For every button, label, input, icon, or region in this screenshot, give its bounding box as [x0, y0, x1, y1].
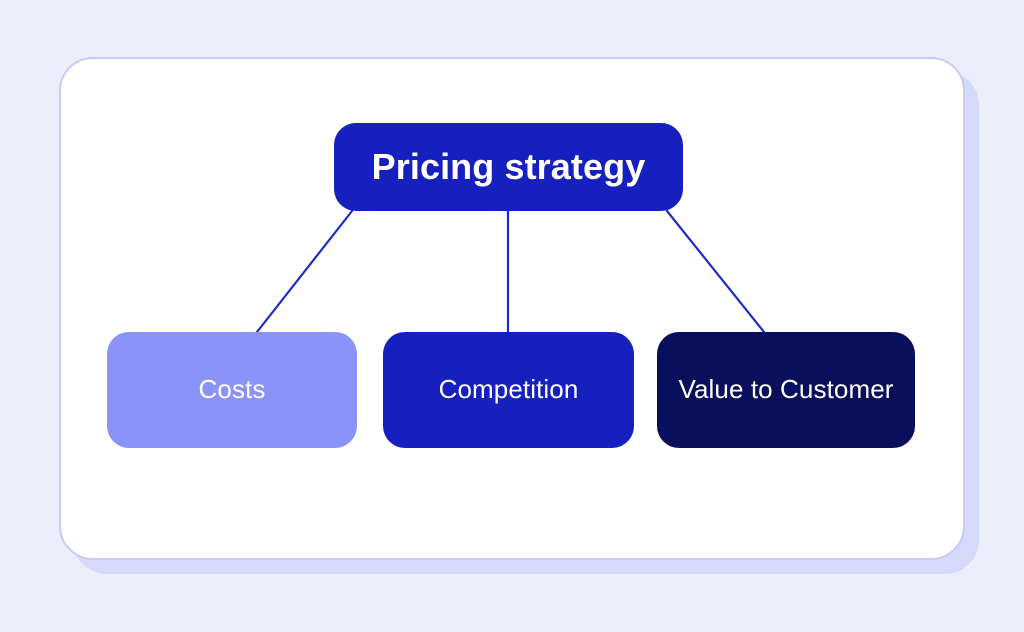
node-pricing-strategy-label: Pricing strategy [372, 146, 646, 187]
node-pricing-strategy[interactable]: Pricing strategy [334, 123, 683, 211]
node-competition[interactable]: Competition [383, 332, 634, 448]
node-costs[interactable]: Costs [107, 332, 357, 448]
node-value-to-customer[interactable]: Value to Customer [657, 332, 915, 448]
node-competition-label: Competition [439, 375, 579, 405]
node-value-to-customer-label: Value to Customer [678, 375, 893, 405]
diagram-canvas: Pricing strategy Costs Competition Value… [0, 0, 1024, 632]
node-costs-label: Costs [199, 375, 266, 405]
